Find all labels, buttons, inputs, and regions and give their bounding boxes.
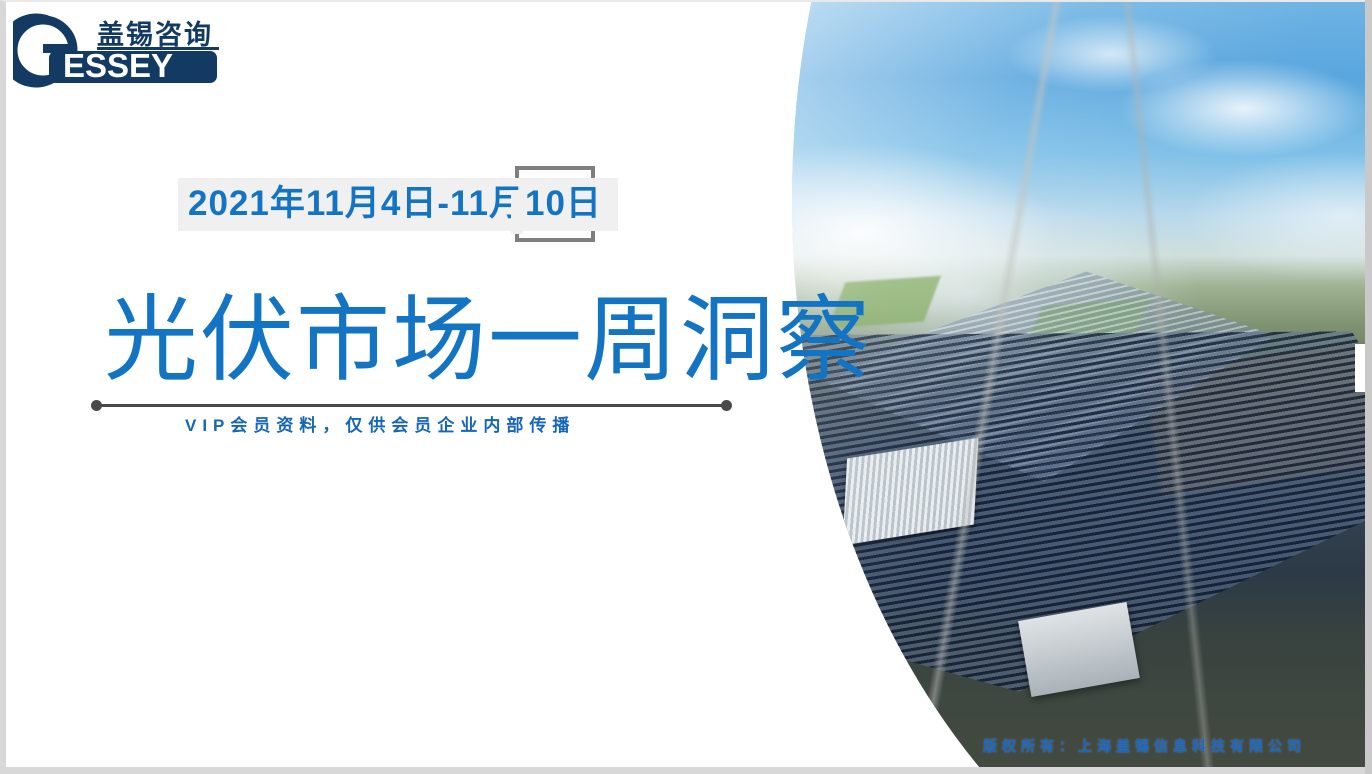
gessey-logo-icon: ESSEY 盖锡咨询 bbox=[13, 10, 253, 90]
date-range-block: 2021年11月4日-11月10日 bbox=[178, 178, 618, 231]
slide-cover: ESSEY 盖锡咨询 2021年11月4日-11月10日 光伏市场一周洞察 VI… bbox=[0, 0, 1372, 774]
divider-dot-right bbox=[721, 400, 732, 411]
photo-haze-overlay bbox=[792, 0, 1372, 774]
slide-border-notch bbox=[1355, 344, 1365, 392]
date-range-text: 2021年11月4日-11月10日 bbox=[188, 184, 602, 223]
slide-border-right bbox=[1365, 0, 1372, 774]
page-subtitle: VIP会员资料，仅供会员企业内部传播 bbox=[185, 411, 575, 436]
logo-chinese-name: 盖锡咨询 bbox=[97, 20, 213, 51]
date-bracket-cut bbox=[511, 190, 523, 234]
solar-farm-aerial-image bbox=[792, 0, 1372, 774]
divider-dot-left bbox=[91, 400, 102, 411]
svg-text:ESSEY: ESSEY bbox=[63, 47, 173, 84]
brand-logo[interactable]: ESSEY 盖锡咨询 bbox=[13, 10, 253, 90]
copyright-text: 版权所有：上海盖锡信息科技有限公司 bbox=[983, 736, 1306, 756]
cover-photo bbox=[792, 0, 1372, 774]
title-divider bbox=[93, 404, 730, 407]
date-highlight-band: 2021年11月4日-11月10日 bbox=[178, 178, 618, 231]
page-title: 光伏市场一周洞察 bbox=[104, 293, 872, 387]
